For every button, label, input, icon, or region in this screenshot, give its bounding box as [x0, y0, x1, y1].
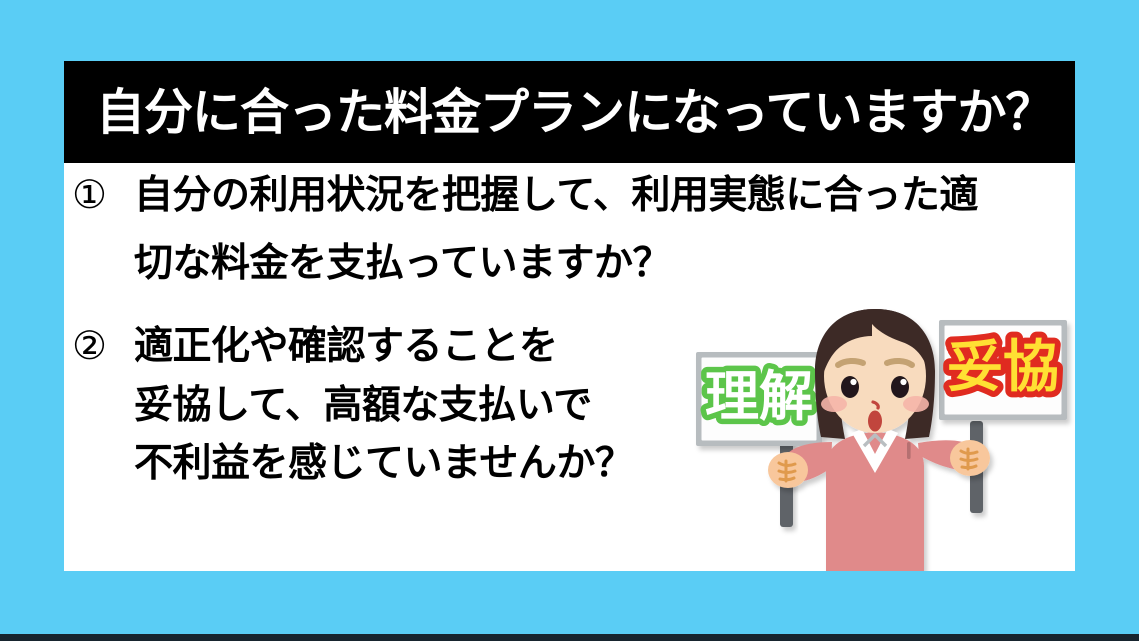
list-item-line: 切な料金を支払っていますか？ [134, 240, 978, 288]
person-cheek-right [903, 396, 929, 412]
list-item-text: 適正化や確認することを 妥協して、高額な支払いで 不利益を感じていませんか？ [134, 323, 633, 488]
person-eye-right [891, 376, 909, 398]
body-area: ① 自分の利用状況を把握して、利用実態に合った適 切な料金を支払っていますか？ … [64, 163, 1075, 571]
person-hand-right [950, 440, 990, 476]
person-cheek-left [821, 396, 847, 412]
sweater-detail [907, 442, 911, 459]
person-eye-highlight-right [900, 379, 906, 385]
illustration-woman-with-signs: 理解 妥協 [676, 303, 1075, 571]
list-item-line: 妥協して、高額な支払いで [134, 382, 633, 430]
illustration-svg: 理解 妥協 [676, 303, 1075, 571]
list-item-text: 自分の利用状況を把握して、利用実態に合った適 切な料金を支払っていますか？ [134, 172, 978, 287]
person-eye-left [841, 376, 859, 398]
left-sign-text: 理解 [705, 365, 813, 428]
right-sign-text: 妥協 [947, 335, 1059, 400]
list-item-line: 不利益を感じていませんか？ [134, 440, 633, 488]
list-item: ① 自分の利用状況を把握して、利用実態に合った適 切な料金を支払っていますか？ [72, 172, 978, 287]
content-card: 自分に合った料金プランになっていますか？ ① 自分の利用状況を把握して、利用実態… [64, 61, 1075, 571]
bottom-strip [0, 634, 1139, 641]
person-mouth [868, 411, 882, 432]
list-item-marker: ② [72, 323, 134, 371]
person-hand-left [768, 452, 808, 488]
slide-canvas: 自分に合った料金プランになっていますか？ ① 自分の利用状況を把握して、利用実態… [0, 0, 1139, 641]
title-bar: 自分に合った料金プランになっていますか？ [64, 61, 1075, 163]
list-item-line: 自分の利用状況を把握して、利用実態に合った適 [134, 172, 978, 220]
list-item-marker: ① [72, 172, 134, 220]
person-eye-highlight-left [850, 379, 856, 385]
list-item: ② 適正化や確認することを 妥協して、高額な支払いで 不利益を感じていませんか？ [72, 323, 633, 488]
list-item-line: 適正化や確認することを [134, 323, 633, 371]
page-title: 自分に合った料金プランになっていますか？ [64, 88, 1054, 137]
